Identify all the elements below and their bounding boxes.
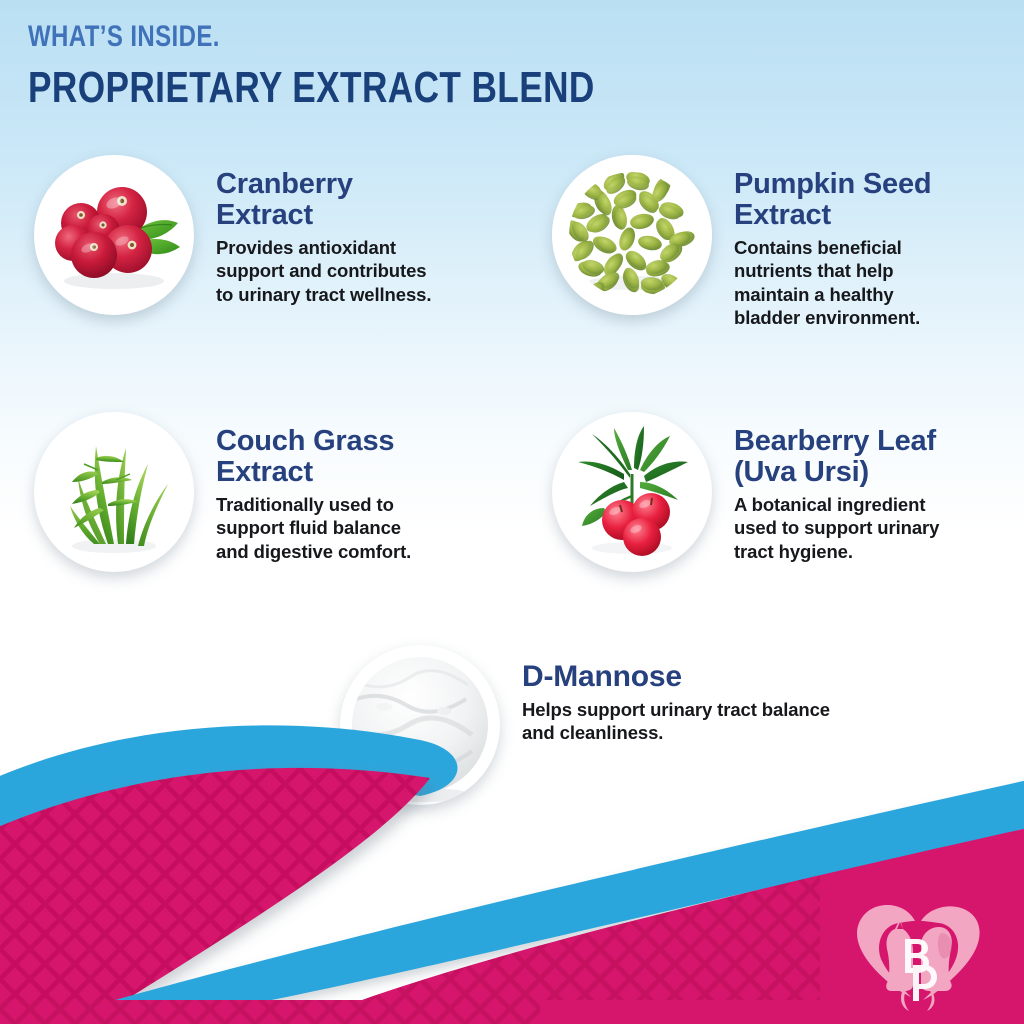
ingredient-title: Cranberry Extract: [216, 169, 501, 231]
ingredient-description: Traditionally used to support fluid bala…: [216, 493, 501, 563]
page-title: PROPRIETARY EXTRACT BLEND: [28, 66, 595, 110]
magenta-base-strip-texture: [0, 1000, 540, 1024]
cranberry-icon: [34, 155, 194, 315]
ingredient-text-block: Bearberry Leaf (Uva Ursi) A botanical in…: [712, 412, 1002, 563]
ingredient-pumpkin-seed: Pumpkin Seed Extract Contains beneficial…: [552, 155, 994, 329]
pumpkin-seed-icon: [552, 155, 712, 315]
kicker-text: WHAT’S INSIDE.: [28, 22, 595, 52]
ingredient-bearberry-leaf: Bearberry Leaf (Uva Ursi) A botanical in…: [552, 412, 1002, 572]
ingredient-text-block: Couch Grass Extract Traditionally used t…: [194, 412, 501, 563]
ingredient-title: Bearberry Leaf (Uva Ursi): [734, 426, 1002, 488]
infographic-canvas: WHAT’S INSIDE. PROPRIETARY EXTRACT BLEND: [0, 0, 1024, 1024]
page-header: WHAT’S INSIDE. PROPRIETARY EXTRACT BLEND: [28, 22, 736, 110]
ingredient-description: Provides antioxidant support and contrib…: [216, 236, 501, 306]
ingredient-text-block: Cranberry Extract Provides antioxidant s…: [194, 155, 501, 306]
ingredient-couch-grass: Couch Grass Extract Traditionally used t…: [34, 412, 501, 572]
ingredient-text-block: Pumpkin Seed Extract Contains beneficial…: [712, 155, 994, 329]
ingredient-cranberry: Cranberry Extract Provides antioxidant s…: [34, 155, 501, 315]
ingredient-description: A botanical ingredient used to support u…: [734, 493, 1002, 563]
couch-grass-icon: [34, 412, 194, 572]
ingredient-description: Contains beneficial nutrients that help …: [734, 236, 994, 329]
ingredient-title: Couch Grass Extract: [216, 426, 501, 488]
ingredient-title: D-Mannose: [522, 661, 942, 693]
ingredient-title: Pumpkin Seed Extract: [734, 169, 994, 231]
bearberry-leaf-icon: [552, 412, 712, 572]
bp-pet-heart-logo: BP: [843, 893, 993, 1011]
